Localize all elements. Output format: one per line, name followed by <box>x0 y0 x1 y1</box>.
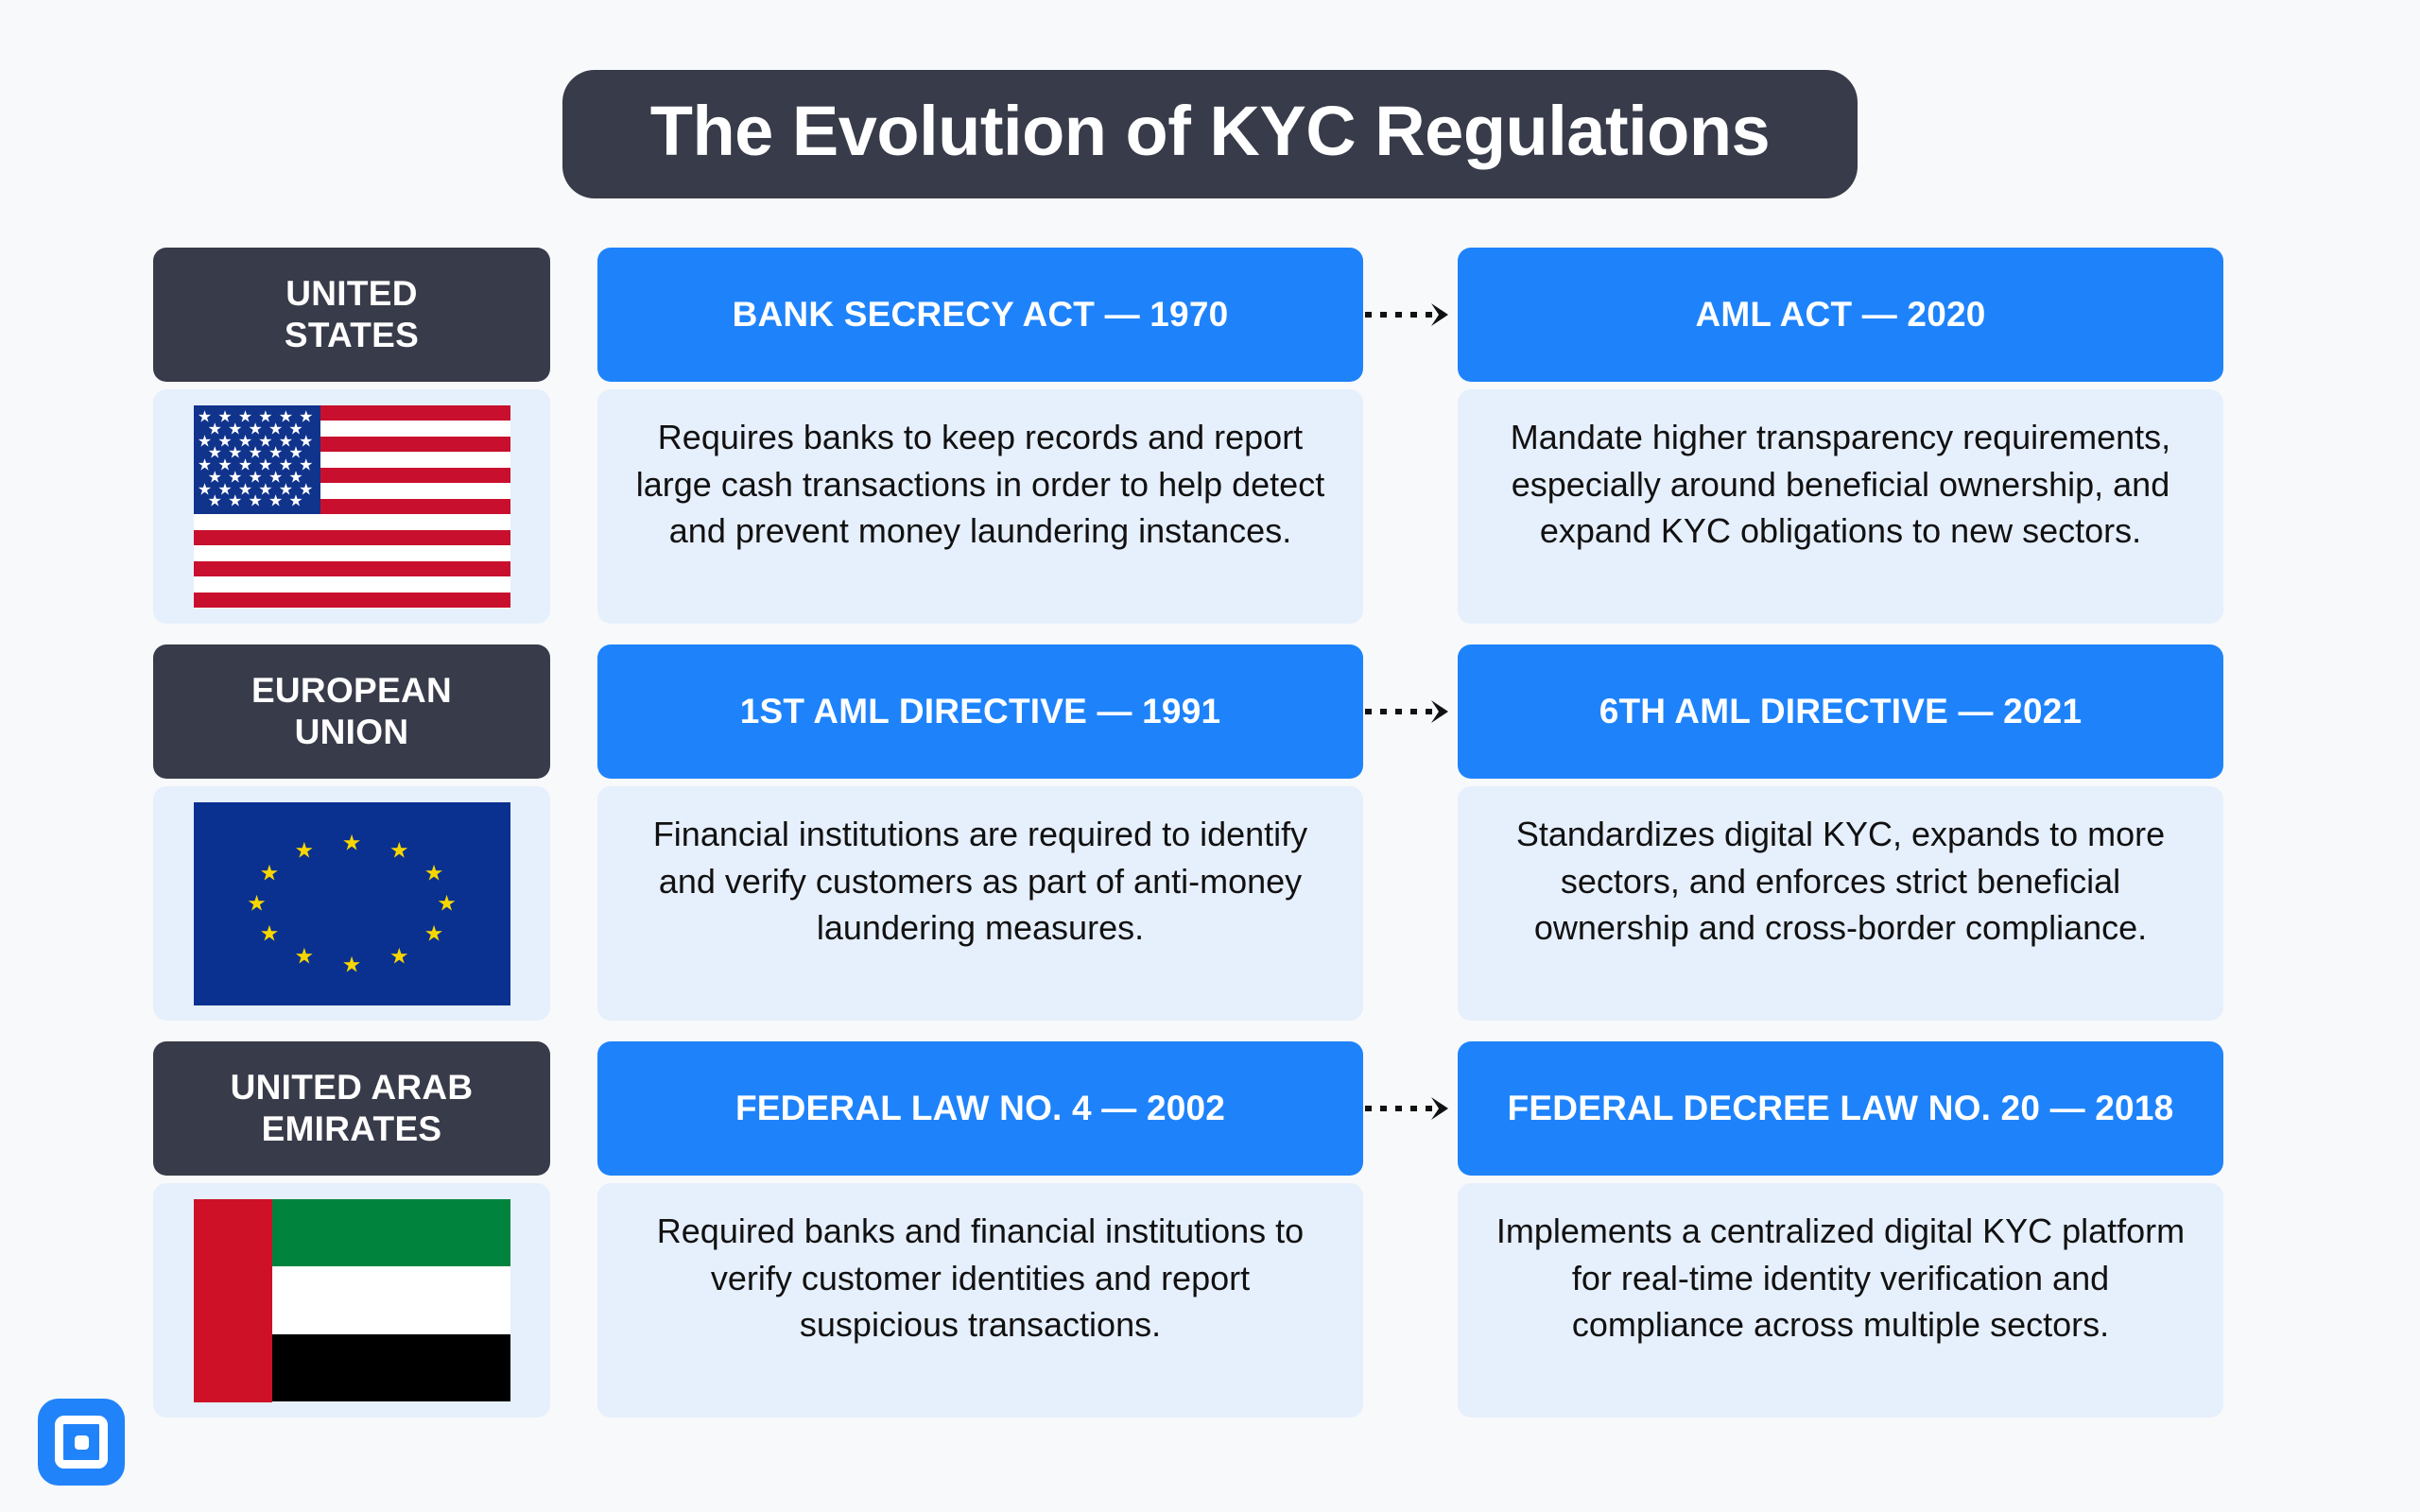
law-title: FEDERAL DECREE LAW NO. 20 — 2018 <box>1508 1088 2174 1129</box>
law-title: AML ACT — 2020 <box>1695 294 1985 335</box>
law-header-bank-secrecy-act: BANK SECRECY ACT — 1970 <box>597 248 1363 382</box>
law-title: BANK SECRECY ACT — 1970 <box>733 294 1229 335</box>
regulation-row: EUROPEANUNION ★ ★ ★ ★ ★ ★ ★ ★ ★ ★ ★ ★ <box>153 644 2301 1021</box>
flag-panel-united-states: ★ ★ ★ ★ ★ ★ ★ ★ ★ ★ ★ ★ ★ ★ ★ <box>153 389 550 624</box>
law-description-panel: Mandate higher transparency requirements… <box>1458 389 2223 624</box>
law-header-federal-decree-law-no-20: FEDERAL DECREE LAW NO. 20 — 2018 <box>1458 1041 2223 1176</box>
law-description-panel: Financial institutions are required to i… <box>597 786 1363 1021</box>
logo-ring <box>55 1416 108 1469</box>
law-description-panel: Requires banks to keep records and repor… <box>597 389 1363 624</box>
law-title: 1ST AML DIRECTIVE — 1991 <box>740 691 1221 732</box>
flag-canton: ★ ★ ★ ★ ★ ★ ★ ★ ★ ★ ★ ★ ★ ★ ★ <box>194 405 320 515</box>
dotted-arrow-icon <box>1363 1092 1458 1125</box>
arrow-connector <box>1363 1041 1458 1176</box>
title-badge: The Evolution of KYC Regulations <box>562 70 1858 198</box>
country-label: EUROPEANUNION <box>251 670 452 752</box>
law-description: Requires banks to keep records and repor… <box>630 414 1331 555</box>
law-description: Financial institutions are required to i… <box>630 811 1331 952</box>
nested-square-logo-icon[interactable] <box>38 1399 125 1486</box>
law-description-panel: Standardizes digital KYC, expands to mor… <box>1458 786 2223 1021</box>
law-title: 6TH AML DIRECTIVE — 2021 <box>1599 691 2083 732</box>
law-header-aml-act: AML ACT — 2020 <box>1458 248 2223 382</box>
flag-european-union-icon: ★ ★ ★ ★ ★ ★ ★ ★ ★ ★ ★ ★ <box>194 802 510 1005</box>
dotted-arrow-icon <box>1363 696 1458 728</box>
flag-united-states-icon: ★ ★ ★ ★ ★ ★ ★ ★ ★ ★ ★ ★ ★ ★ ★ <box>194 405 510 609</box>
law-title: FEDERAL LAW NO. 4 — 2002 <box>735 1088 1225 1129</box>
law-description-panel: Implements a centralized digital KYC pla… <box>1458 1183 2223 1417</box>
law-header-federal-law-no-4: FEDERAL LAW NO. 4 — 2002 <box>597 1041 1363 1176</box>
regulation-row: UNITED ARABEMIRATES FEDERAL LAW NO. 4 — … <box>153 1041 2301 1417</box>
title-container: The Evolution of KYC Regulations <box>0 70 2420 198</box>
law-description: Required banks and financial institution… <box>630 1208 1331 1349</box>
arrow-connector <box>1363 644 1458 779</box>
regulation-grid: UNITEDSTATES ★ ★ ★ ★ ★ <box>153 248 2301 1417</box>
country-chip-united-states: UNITEDSTATES <box>153 248 550 382</box>
country-label: UNITED ARABEMIRATES <box>231 1067 474 1149</box>
logo-core <box>75 1435 89 1450</box>
country-label: UNITEDSTATES <box>285 273 419 355</box>
regulation-row: UNITEDSTATES ★ ★ ★ ★ ★ <box>153 248 2301 624</box>
law-description: Standardizes digital KYC, expands to mor… <box>1490 811 2191 952</box>
page-title: The Evolution of KYC Regulations <box>623 96 1797 166</box>
law-header-1st-aml-directive: 1ST AML DIRECTIVE — 1991 <box>597 644 1363 779</box>
country-chip-european-union: EUROPEANUNION <box>153 644 550 779</box>
flag-united-arab-emirates-icon <box>194 1199 510 1402</box>
dotted-arrow-icon <box>1363 299 1458 331</box>
flag-panel-european-union: ★ ★ ★ ★ ★ ★ ★ ★ ★ ★ ★ ★ <box>153 786 550 1021</box>
law-description: Implements a centralized digital KYC pla… <box>1490 1208 2191 1349</box>
flag-panel-united-arab-emirates <box>153 1183 550 1417</box>
infographic-page: The Evolution of KYC Regulations UNITEDS… <box>0 0 2420 1512</box>
law-header-6th-aml-directive: 6TH AML DIRECTIVE — 2021 <box>1458 644 2223 779</box>
arrow-connector <box>1363 248 1458 382</box>
law-description: Mandate higher transparency requirements… <box>1490 414 2191 555</box>
country-chip-united-arab-emirates: UNITED ARABEMIRATES <box>153 1041 550 1176</box>
law-description-panel: Required banks and financial institution… <box>597 1183 1363 1417</box>
